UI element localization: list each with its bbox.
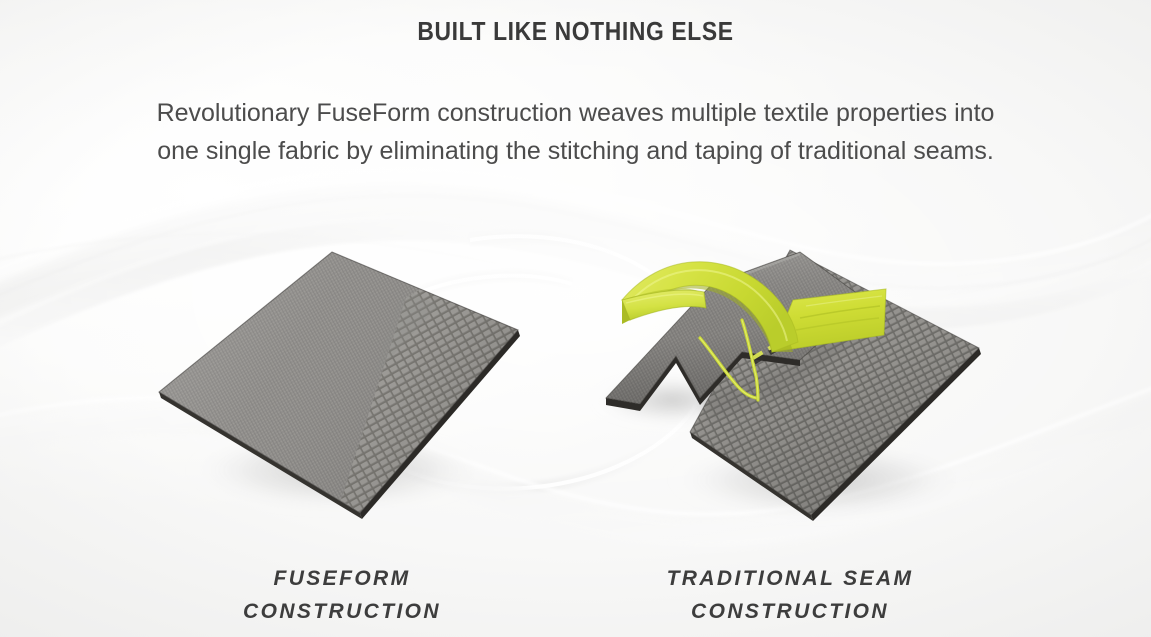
caption-traditional-line1: TRADITIONAL SEAM xyxy=(600,562,980,595)
page-title: BUILT LIKE NOTHING ELSE xyxy=(69,16,1082,47)
caption-fuseform-line1: FUSEFORM xyxy=(152,562,532,595)
caption-fuseform: FUSEFORM CONSTRUCTION xyxy=(152,562,532,628)
description-paragraph: Revolutionary FuseForm construction weav… xyxy=(146,94,1006,170)
caption-traditional-line2: CONSTRUCTION xyxy=(600,595,980,628)
caption-fuseform-line2: CONSTRUCTION xyxy=(152,595,532,628)
caption-traditional-seam: TRADITIONAL SEAM CONSTRUCTION xyxy=(600,562,980,628)
promo-panel: BUILT LIKE NOTHING ELSE Revolutionary Fu… xyxy=(0,0,1151,637)
